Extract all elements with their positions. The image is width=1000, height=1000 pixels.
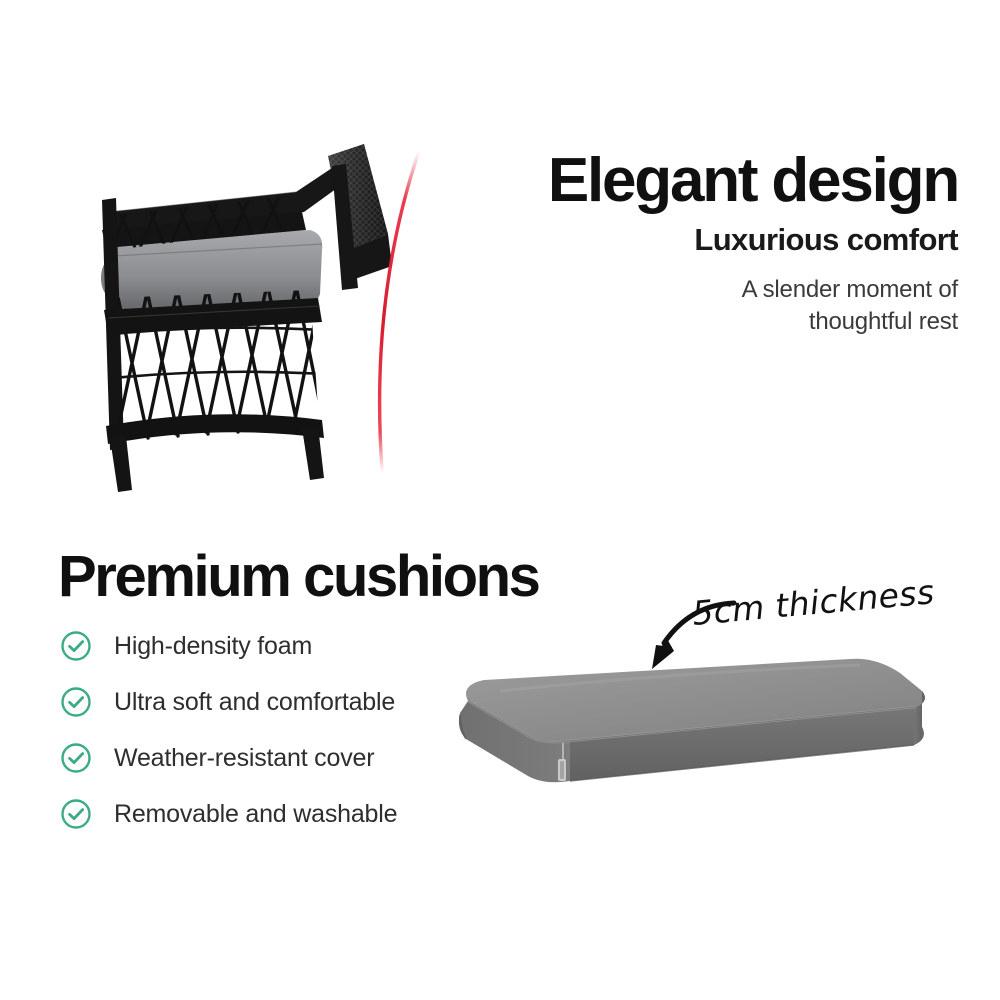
elegant-design-description: A slender moment of thoughtful rest — [438, 274, 958, 338]
thickness-annotation-text: 5cm thickness — [691, 574, 936, 632]
feature-label: Ultra soft and comfortable — [114, 687, 395, 717]
chair-front-leg — [110, 436, 132, 492]
elegant-design-subtitle: Luxurious comfort — [438, 220, 958, 260]
check-circle-icon — [60, 742, 92, 774]
red-accent-curve-icon — [352, 148, 442, 478]
description-line-1: A slender moment of — [742, 276, 958, 303]
feature-list: High-density foam Ultra soft and comfort… — [60, 620, 490, 844]
elegant-design-text-block: Elegant design Luxurious comfort A slend… — [438, 148, 958, 338]
list-item: High-density foam — [60, 620, 490, 672]
description-line-2: thoughtful rest — [809, 308, 958, 335]
list-item: Ultra soft and comfortable — [60, 676, 490, 728]
feature-label: Weather-resistant cover — [114, 743, 374, 773]
list-item: Removable and washable — [60, 788, 490, 840]
premium-cushions-title: Premium cushions — [58, 545, 539, 609]
check-circle-icon — [60, 686, 92, 718]
list-item: Weather-resistant cover — [60, 732, 490, 784]
feature-label: High-density foam — [114, 631, 312, 661]
chair-bottom-rail — [106, 414, 324, 444]
infographic-page: Elegant design Luxurious comfort A slend… — [0, 0, 1000, 1000]
feature-label: Removable and washable — [114, 799, 397, 829]
check-circle-icon — [60, 630, 92, 662]
check-circle-icon — [60, 798, 92, 830]
elegant-design-title: Elegant design — [438, 148, 958, 214]
